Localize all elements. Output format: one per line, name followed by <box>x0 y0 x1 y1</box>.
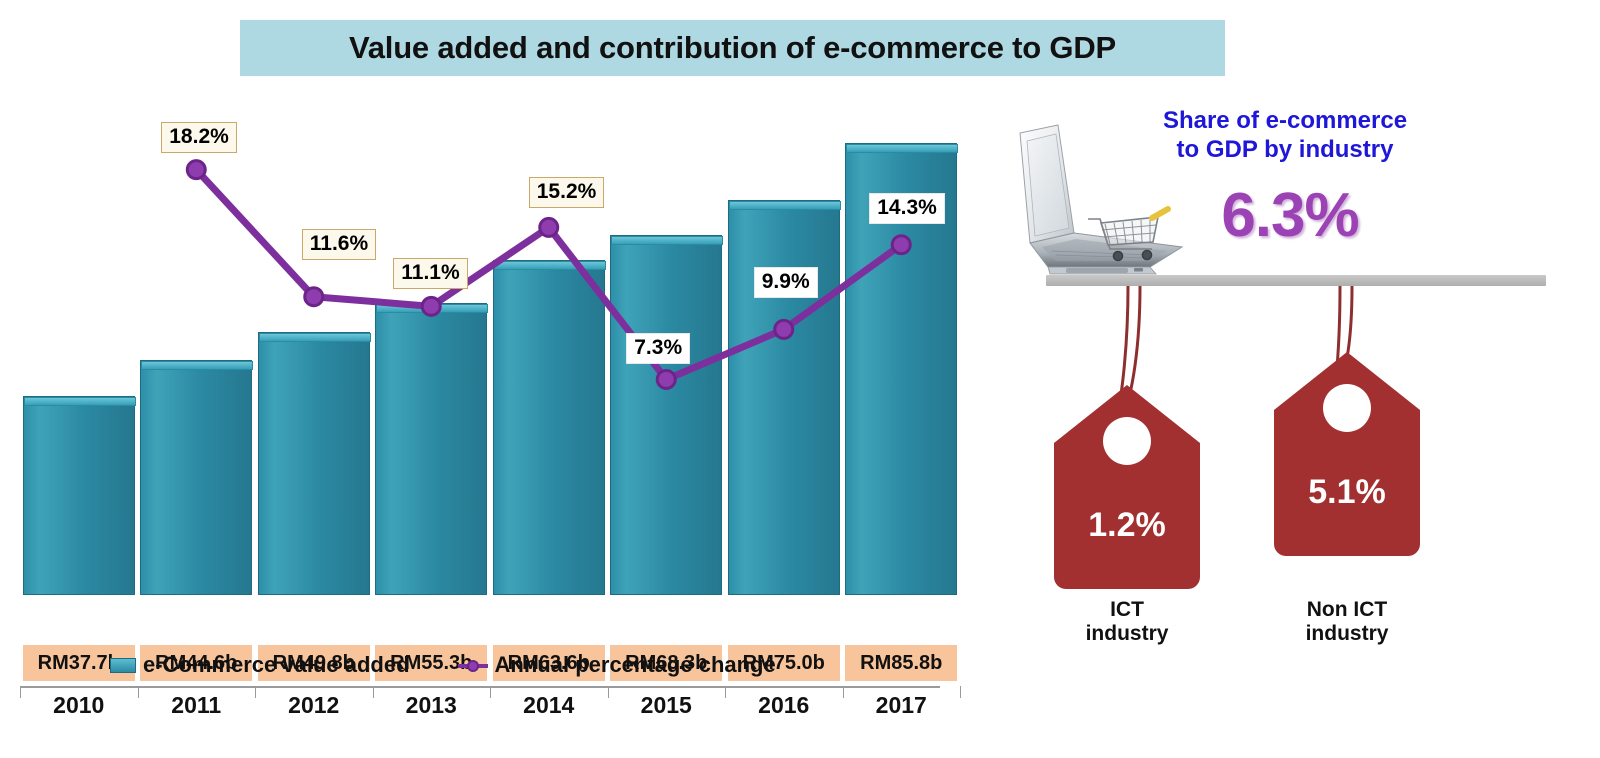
panel-heading: Share of e-commerce to GDP by industry <box>1120 107 1450 165</box>
percent-label-2013: 11.1% <box>393 258 467 289</box>
legend-label-line: Annual percentage change <box>495 652 776 678</box>
bar-body <box>23 396 135 595</box>
bar-2011[interactable] <box>140 360 252 595</box>
x-axis-line <box>20 686 940 688</box>
bar-2012[interactable] <box>258 332 370 595</box>
bar-top-cap <box>141 361 253 370</box>
tag-value-non-ict: 5.1% <box>1262 346 1432 512</box>
legend-item-bar[interactable]: e-Commerce value added <box>110 652 410 678</box>
bar-body <box>258 332 370 595</box>
tag-caption-ict-line2: industry <box>1042 622 1212 647</box>
bar-2016[interactable] <box>728 200 840 595</box>
bar-top-cap <box>24 397 136 406</box>
bar-body <box>140 360 252 595</box>
year-label-2017: 2017 <box>845 692 957 719</box>
percent-label-2017: 14.3% <box>869 193 945 224</box>
year-label-2012: 2012 <box>258 692 370 719</box>
bar-top-cap <box>846 144 958 153</box>
legend-item-line[interactable]: Annual percentage change <box>458 652 776 678</box>
page-title-band: Value added and contribution of e-commer… <box>240 20 1225 76</box>
tag-value-ict: 1.2% <box>1042 379 1212 545</box>
bar-2010[interactable] <box>23 396 135 595</box>
bar-body <box>375 303 487 595</box>
bar-body <box>493 260 605 595</box>
year-label-2010: 2010 <box>23 692 135 719</box>
chart-plot-area <box>20 90 960 595</box>
page-title: Value added and contribution of e-commer… <box>349 30 1116 66</box>
year-label-2014: 2014 <box>493 692 605 719</box>
bar-body <box>610 235 722 595</box>
percent-label-2016: 9.9% <box>754 267 818 298</box>
panel-heading-line2: to GDP by industry <box>1120 136 1450 165</box>
tag-caption-non-ict-line1: Non ICT <box>1262 598 1432 623</box>
year-label-2015: 2015 <box>610 692 722 719</box>
bar-2015[interactable] <box>610 235 722 595</box>
bar-top-cap <box>729 201 841 210</box>
bar-top-cap <box>611 236 723 245</box>
bar-top-cap <box>376 304 488 313</box>
bar-2014[interactable] <box>493 260 605 595</box>
bar-top-cap <box>494 261 606 270</box>
x-axis-year-labels: 20102011201220132014201520162017 <box>20 692 960 730</box>
percent-label-2011: 18.2% <box>161 122 237 153</box>
panel-heading-line1: Share of e-commerce <box>1120 107 1450 136</box>
line-marker-icon <box>458 658 488 673</box>
year-label-2013: 2013 <box>375 692 487 719</box>
overall-share-value: 6.3% <box>1180 180 1400 251</box>
infographic-root: Value added and contribution of e-commer… <box>0 0 1600 758</box>
bar-body <box>728 200 840 595</box>
chart-legend: e-Commerce value added Annual percentage… <box>110 645 870 685</box>
tag-caption-ict-line1: ICT <box>1042 598 1212 623</box>
bar-top-cap <box>259 333 371 342</box>
combo-chart: 18.2%11.6%11.1%15.2%7.3%9.9%14.3% RM37.7… <box>0 90 980 710</box>
bar-2013[interactable] <box>375 303 487 595</box>
legend-label-bar: e-Commerce value added <box>143 652 410 678</box>
tag-caption-non-ict-line2: industry <box>1262 622 1432 647</box>
percent-label-2012: 11.6% <box>302 229 376 260</box>
share-by-industry-panel: Share of e-commerce to GDP by industry 6… <box>990 95 1600 695</box>
year-label-2011: 2011 <box>140 692 252 719</box>
shelf-bar <box>1046 275 1546 286</box>
year-label-2016: 2016 <box>728 692 840 719</box>
percent-label-2015: 7.3% <box>626 333 690 364</box>
bar-swatch-icon <box>110 658 136 673</box>
percent-label-2014: 15.2% <box>529 177 605 208</box>
axis-tick <box>960 686 961 698</box>
